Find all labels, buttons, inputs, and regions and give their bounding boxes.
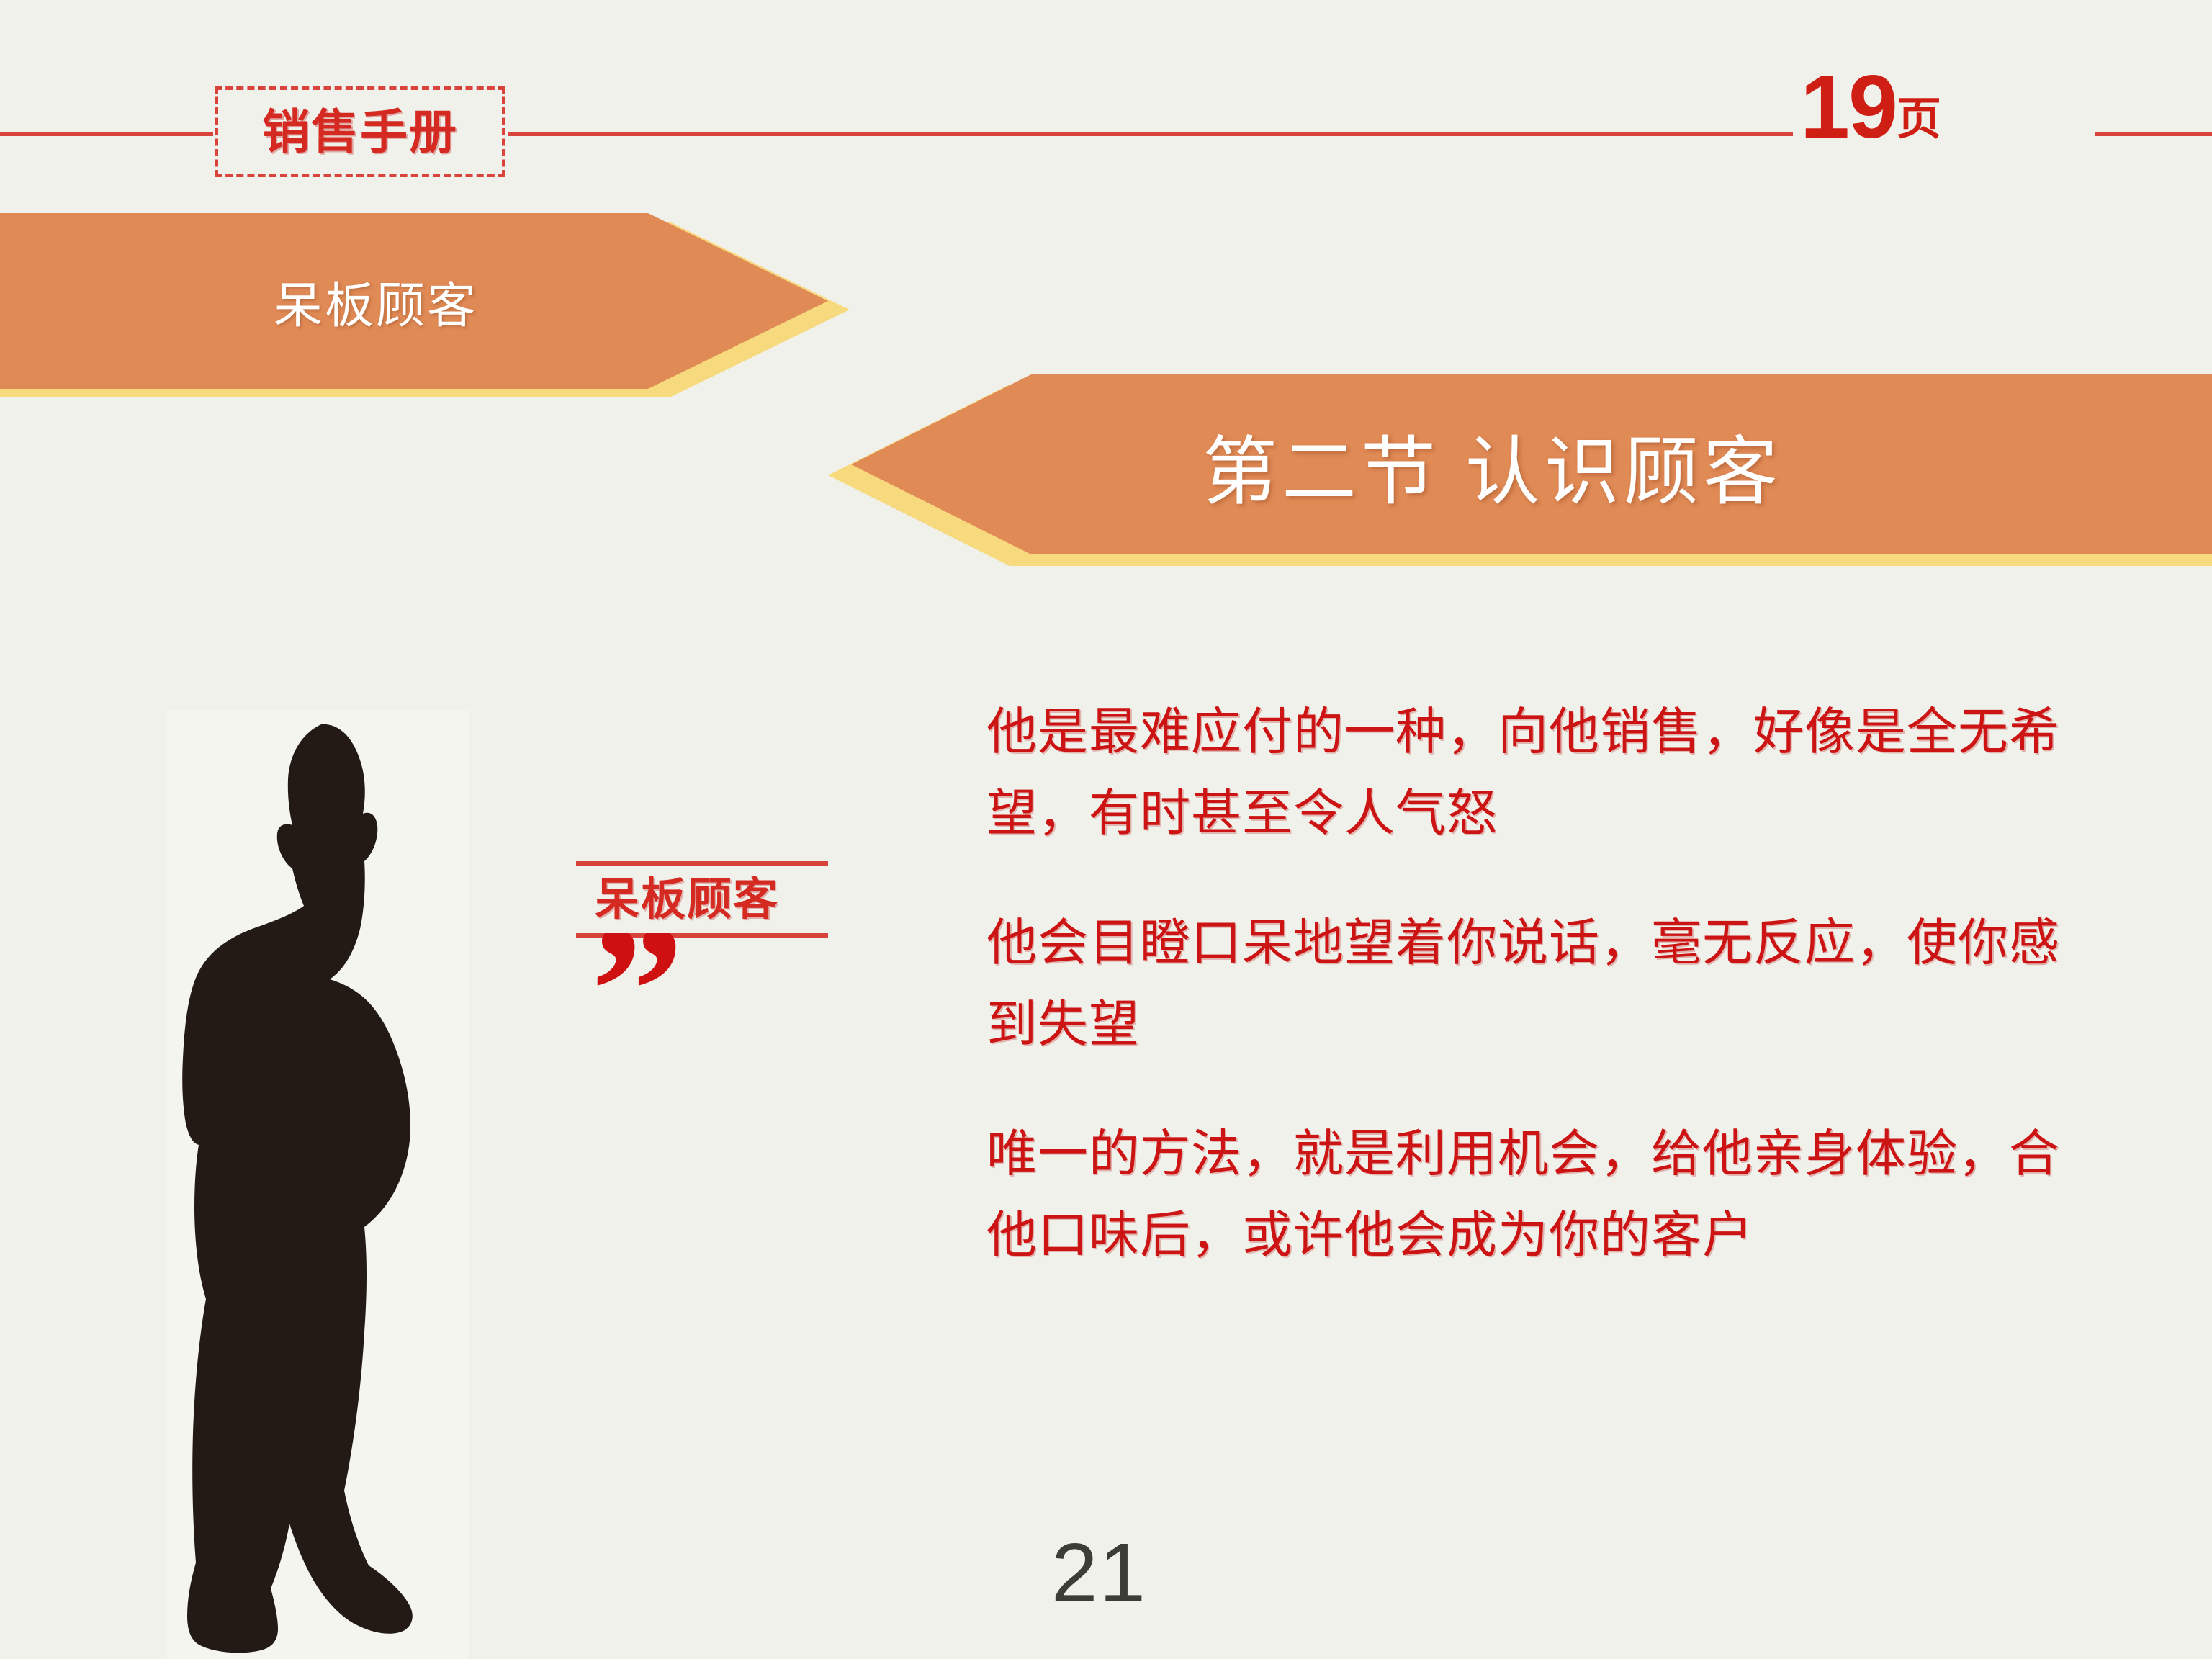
slide-canvas: 销售手册 19 页 呆板顾客 第二节 认识顾客 呆板顾客 ” 他是最难应付的一种…: [0, 0, 2212, 1659]
manual-badge-label: 销售手册: [262, 108, 458, 156]
footer-page-number: 21: [1051, 1531, 1147, 1614]
category-banner: 呆板顾客: [0, 213, 850, 397]
body-paragraph: 他会目瞪口呆地望着你说话，毫无反应，使你感到失望: [986, 902, 2110, 1066]
body-paragraph: 唯一的方法，就是利用机会，给他亲身体验，合他口味后，或许他会成为你的客户: [986, 1113, 2110, 1277]
manual-badge: 销售手册: [215, 86, 505, 177]
page-indicator-unit: 页: [1897, 97, 1941, 146]
body-paragraph: 他是最难应付的一种，向他销售，好像是全无希望，有时甚至令人气怒: [986, 691, 2110, 855]
page-indicator: 19 页: [1800, 69, 1941, 146]
quotation-mark-icon: ”: [576, 933, 850, 1063]
section-banner-title: 第二节 认识顾客: [1202, 374, 1782, 554]
body-copy: 他是最难应付的一种，向他销售，好像是全无希望，有时甚至令人气怒 他会目瞪口呆地望…: [986, 691, 2110, 1276]
category-banner-label: 呆板顾客: [274, 213, 478, 389]
section-banner: 第二节 认识顾客: [828, 374, 2212, 570]
customer-silhouette-image: [151, 691, 526, 1659]
page-indicator-number: 19: [1800, 69, 1897, 146]
quote-label: 呆板顾客: [576, 866, 850, 933]
quote-block: 呆板顾客 ”: [576, 861, 850, 1063]
